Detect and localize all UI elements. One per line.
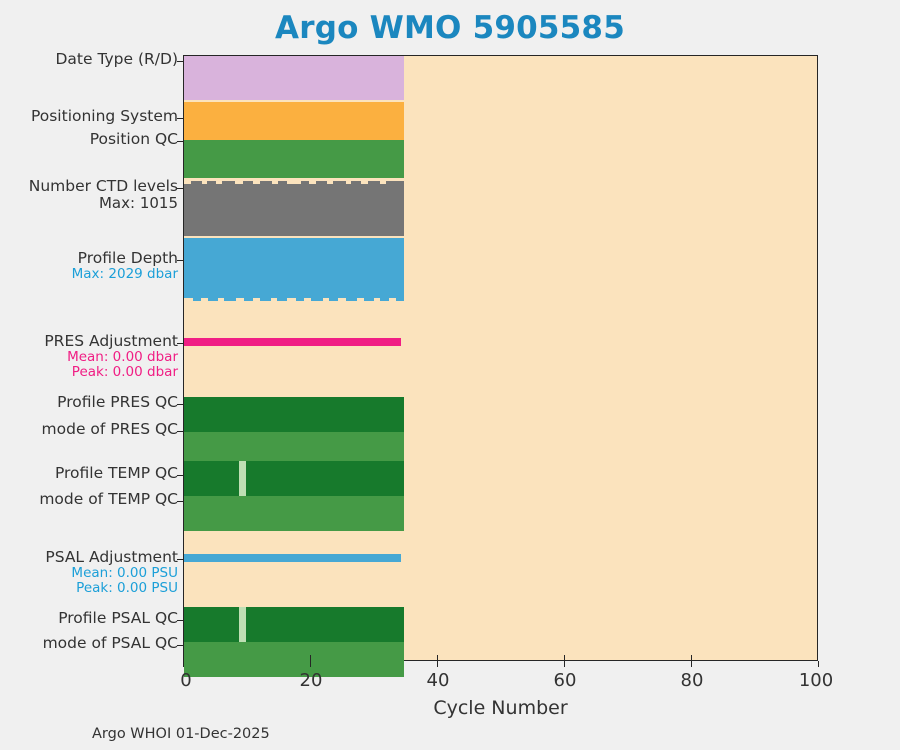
xtick-inner-40 <box>437 655 438 661</box>
ylabel-psal-adjustment-text: PSAL Adjustment <box>0 549 178 566</box>
bar-date-type <box>184 56 404 100</box>
page-title: Argo WMO 5905585 <box>0 10 900 46</box>
ylabel-profile-temp-qc-text: Profile TEMP QC <box>0 465 178 482</box>
ylabel-positioning-system-text: Positioning System <box>0 108 178 125</box>
ylabel-pres-adjustment-text: PRES Adjustment <box>0 333 178 350</box>
ylabel-profile-depth-text: Profile Depth <box>0 250 178 267</box>
xticklabel-60: 60 <box>554 670 577 691</box>
ylabel-psal-adjustment: PSAL Adjustment Mean: 0.00 PSU Peak: 0.0… <box>0 549 178 597</box>
xtick-80 <box>691 661 692 667</box>
x-axis-title: Cycle Number <box>183 697 818 719</box>
xticklabel-0: 0 <box>180 670 191 691</box>
bar-number-ctd-levels <box>184 184 404 236</box>
xtick-60 <box>564 661 565 667</box>
ylabel-date-type-text: Date Type (R/D) <box>0 51 178 68</box>
bar-profile-psal-qc <box>184 607 404 642</box>
bar-position-qc <box>184 140 404 178</box>
ylabel-profile-temp-qc: Profile TEMP QC <box>0 465 178 482</box>
ylabel-profile-psal-qc-text: Profile PSAL QC <box>0 610 178 627</box>
ylabel-number-ctd-levels: Number CTD levels Max: 1015 <box>0 178 178 212</box>
ylabel-position-qc-text: Position QC <box>0 131 178 148</box>
xtick-inner-60 <box>564 655 565 661</box>
ylabel-profile-psal-qc: Profile PSAL QC <box>0 610 178 627</box>
argo-float-summary-figure: Argo WMO 5905585 <box>0 0 900 750</box>
ylabel-mode-pres-qc: mode of PRES QC <box>0 421 178 438</box>
xticklabel-80: 80 <box>681 670 704 691</box>
xtick-inner-20 <box>310 655 311 661</box>
bar-mode-temp-qc <box>184 496 404 531</box>
bar-profile-temp-qc <box>184 461 404 496</box>
ylabel-number-ctd-levels-text: Number CTD levels <box>0 178 178 195</box>
ylabel-depth-max: Max: 2029 dbar <box>0 267 178 282</box>
ylabel-pres-adjustment: PRES Adjustment Mean: 0.00 dbar Peak: 0.… <box>0 333 178 381</box>
plot-area <box>183 55 818 661</box>
xtick-inner-80 <box>691 655 692 661</box>
bar-mode-psal-qc <box>184 642 404 677</box>
ylabel-mode-temp-qc-text: mode of TEMP QC <box>0 491 178 508</box>
xtick-0 <box>183 661 184 667</box>
ylabel-psal-mean: Mean: 0.00 PSU <box>0 566 178 581</box>
xticklabel-40: 40 <box>427 670 450 691</box>
bar-profile-pres-qc <box>184 397 404 432</box>
xtick-20 <box>310 661 311 667</box>
xticklabel-100: 100 <box>799 670 833 691</box>
xticklabel-20: 20 <box>300 670 323 691</box>
ylabel-position-qc: Position QC <box>0 131 178 148</box>
bar-profile-depth <box>184 238 404 301</box>
ylabel-pres-peak: Peak: 0.00 dbar <box>0 365 178 380</box>
ylabel-ctd-max: Max: 1015 <box>0 195 178 212</box>
ylabel-mode-psal-qc: mode of PSAL QC <box>0 635 178 652</box>
bar-psal-adjustment <box>184 554 401 562</box>
ylabel-profile-pres-qc-text: Profile PRES QC <box>0 394 178 411</box>
ylabel-profile-pres-qc: Profile PRES QC <box>0 394 178 411</box>
footer-attribution: Argo WHOI 01-Dec-2025 <box>92 726 270 742</box>
ylabel-positioning-system: Positioning System <box>0 108 178 125</box>
ylabel-psal-peak: Peak: 0.00 PSU <box>0 581 178 596</box>
ylabel-pres-mean: Mean: 0.00 dbar <box>0 350 178 365</box>
bar-positioning-system <box>184 102 404 140</box>
bar-pres-adjustment <box>184 338 401 346</box>
ylabel-date-type: Date Type (R/D) <box>0 51 178 68</box>
ylabel-mode-temp-qc: mode of TEMP QC <box>0 491 178 508</box>
bars-layer <box>184 56 817 660</box>
ylabel-profile-depth: Profile Depth Max: 2029 dbar <box>0 250 178 282</box>
ylabel-mode-pres-qc-text: mode of PRES QC <box>0 421 178 438</box>
xtick-100 <box>818 661 819 667</box>
ylabel-mode-psal-qc-text: mode of PSAL QC <box>0 635 178 652</box>
y-axis-labels: Date Type (R/D) Positioning System Posit… <box>0 55 178 661</box>
xtick-40 <box>437 661 438 667</box>
